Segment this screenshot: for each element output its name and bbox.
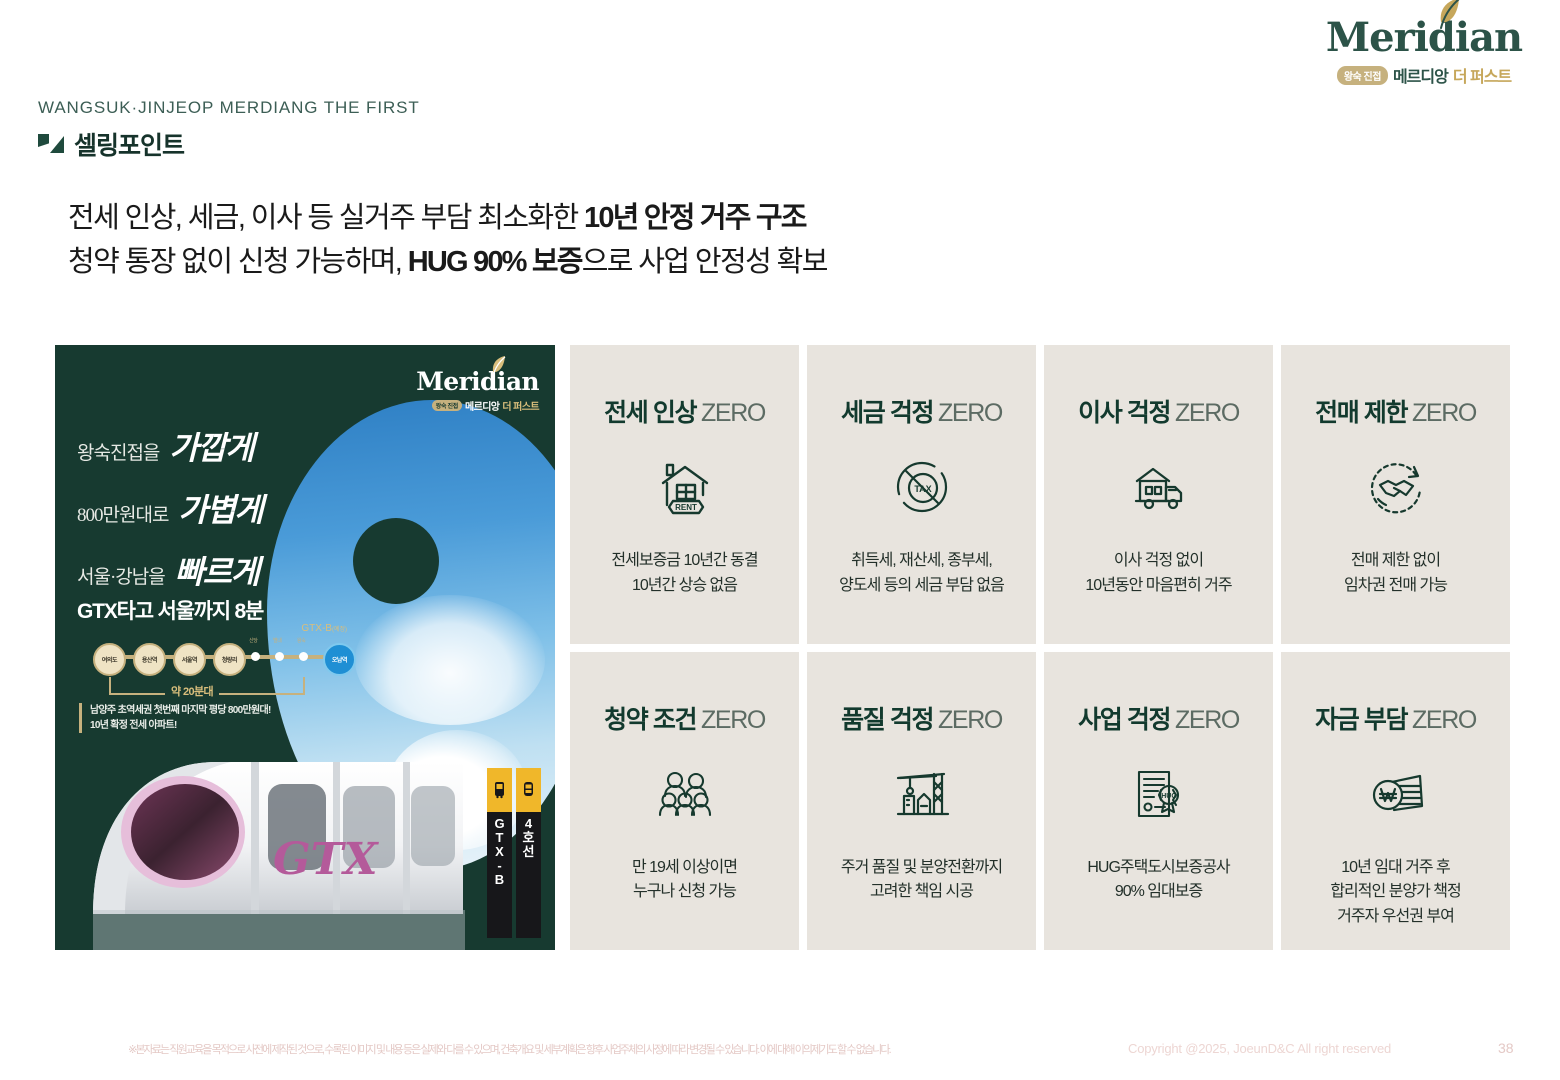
card-description: 전세보증금 10년간 동결10년간 상승 없음 <box>611 549 757 599</box>
subway-icon <box>516 768 541 812</box>
house-rent-icon: RENT <box>653 455 717 519</box>
sign-label-gtx-b: GTX-B <box>494 817 504 887</box>
handshake-icon <box>1364 455 1428 519</box>
card-description: HUG주택도시보증공사90% 임대보증 <box>1087 856 1229 906</box>
metro-station: 용산역 <box>133 643 166 676</box>
card-description: 10년 임대 거주 후합리적인 분양가 책정거주자 우선권 부여 <box>1330 856 1460 930</box>
metro-dot <box>275 652 284 661</box>
svg-text:RENT: RENT <box>675 503 697 512</box>
brand-pill: 왕숙 진접 <box>1337 66 1388 85</box>
brand-subline: 왕숙 진접 메르디앙 더 퍼스트 <box>1337 63 1511 87</box>
poster-kr-secondary: 더 퍼스트 <box>502 398 539 413</box>
people-group-icon <box>653 762 717 826</box>
slogan-row: 서울·강남을빠르게 <box>77 547 337 593</box>
card-title: 전매 제한ZERO <box>1315 393 1476 429</box>
moving-truck-icon <box>1127 455 1191 519</box>
lede-line-2: 청약 통장 없이 신청 가능하며, HUG 90% 보증으로 사업 안정성 확보 <box>68 240 1068 284</box>
footer-copyright: Copyright @2025, JoeunD&C All right rese… <box>1128 1041 1391 1056</box>
card-resale-restriction[interactable]: 전매 제한ZERO 전매 제한 없이임차권 전매 가능 <box>1281 345 1510 644</box>
slogan-row: 800만원대로가볍게 <box>77 485 337 531</box>
card-funding-burden[interactable]: 자금 부담ZERO 10년 임대 거주 후합리적인 분양가 책정거주자 우선권 … <box>1281 652 1510 951</box>
card-subscription-condition[interactable]: 청약 조건ZERO 만 19세 이상이면누구나 신청 가능 <box>570 652 799 951</box>
slogan-row: 왕숙진접을가깝게 <box>77 423 337 469</box>
metro-dot <box>251 652 260 661</box>
metro-dot <box>299 652 308 661</box>
card-title: 사업 걱정ZERO <box>1078 700 1239 736</box>
metro-station-end: 오남역 <box>323 643 356 676</box>
metro-midlabel: 왕숙 <box>297 637 306 644</box>
gtx-headline: GTX타고 서울까지 8분 <box>77 595 263 625</box>
card-title: 전세 인상ZERO <box>604 393 765 429</box>
construction-crane-icon <box>890 762 954 826</box>
poster-brand-pill: 왕숙 진접 <box>432 400 462 411</box>
page-title-text: 셀링포인트 <box>74 126 184 162</box>
card-business-worry[interactable]: 사업 걱정ZERO HUG HUG주택도시보증공사90% 임대보증 <box>1044 652 1273 951</box>
hug-certificate-icon: HUG <box>1127 762 1191 826</box>
page-title: 셀링포인트 <box>38 126 184 162</box>
sign-label-line-4: 4호선 <box>523 817 535 859</box>
metro-station: 여의도 <box>93 643 126 676</box>
brand-kr-primary: 메르디앙 <box>1393 63 1448 87</box>
svg-text:TAX: TAX <box>914 484 931 494</box>
promo-poster: Meridian 왕숙 진접 메르디앙 더 퍼스트 왕숙진접을가깝게 800만원… <box>55 345 555 950</box>
brand-kr-secondary: 더 퍼스트 <box>1453 63 1511 87</box>
section-mark-icon <box>38 132 64 156</box>
station-signs: GTX-B 4호선 <box>487 768 541 938</box>
card-title: 자금 부담ZERO <box>1315 700 1476 736</box>
gtx-train-logo: GTX <box>273 834 379 885</box>
selling-point-grid: 전세 인상ZERO RENT 전세보증금 10년간 동결10년간 상승 없음 세… <box>570 345 1510 950</box>
no-tax-icon: TAX <box>890 455 954 519</box>
poster-wordmark: Meridian <box>416 369 539 394</box>
poster-brand-logo: Meridian 왕숙 진접 메르디앙 더 퍼스트 <box>416 369 539 413</box>
lede-block: 전세 인상, 세금, 이사 등 실거주 부담 최소화한 10년 안정 거주 구조… <box>68 196 1068 284</box>
poster-note-line: 남양주 초역세권 첫번째 마지막 평당 800만원대! <box>90 703 271 718</box>
sign-gtx-b: GTX-B <box>487 768 512 938</box>
svg-text:HUG: HUG <box>1161 793 1177 800</box>
breadcrumb: WANGSUK·JINJEOP MERDIANG THE FIRST <box>38 98 420 118</box>
cloud-graphic <box>355 595 545 725</box>
leaf-icon <box>490 355 507 377</box>
card-quality-worry[interactable]: 품질 걱정ZERO 주거 품질 및 분양전환까지고려한 책임 시공 <box>807 652 1036 951</box>
sign-line-4: 4호선 <box>516 768 541 938</box>
card-moving-worry[interactable]: 이사 걱정ZERO 이사 걱정 없이10년동안 마음편히 거주 <box>1044 345 1273 644</box>
metro-midlabel: 신당 <box>249 637 258 644</box>
card-title: 세금 걱정ZERO <box>841 393 1002 429</box>
gtx-train-image: GTX <box>63 724 503 950</box>
brand-wordmark: Meridian <box>1326 18 1522 58</box>
card-title: 이사 걱정ZERO <box>1078 393 1239 429</box>
page-number: 38 <box>1498 1040 1514 1056</box>
brand-logo: Meridian 왕숙 진접 메르디앙 더 퍼스트 <box>1318 18 1530 98</box>
poster-slogans: 왕숙진접을가깝게 800만원대로가볍게 서울·강남을빠르게 <box>77 423 337 609</box>
metro-midlabel: 별내 <box>273 637 282 644</box>
metro-duration-label: 약 20분대 <box>165 683 219 699</box>
card-tax-worry[interactable]: 세금 걱정ZERO TAX 취득세, 재산세, 종부세,양도세 등의 세금 부담… <box>807 345 1036 644</box>
card-title: 청약 조건ZERO <box>604 700 765 736</box>
card-title: 품질 걱정ZERO <box>841 700 1002 736</box>
card-description: 전매 제한 없이임차권 전매 가능 <box>1344 549 1447 599</box>
metro-station: 청량리 <box>213 643 246 676</box>
card-description: 만 19세 이상이면누구나 신청 가능 <box>632 856 737 906</box>
metro-line-diagram: GTX-B(예정) 여의도 용산역 서울역 청량리 신당 별내 왕숙 오남역 약… <box>73 627 363 697</box>
card-jeonse-increase[interactable]: 전세 인상ZERO RENT 전세보증금 10년간 동결10년간 상승 없음 <box>570 345 799 644</box>
train-icon <box>487 768 512 812</box>
card-description: 이사 걱정 없이10년동안 마음편히 거주 <box>1085 549 1231 599</box>
won-money-icon <box>1364 762 1428 826</box>
metro-line-label: GTX-B(예정) <box>301 623 347 634</box>
metro-station: 서울역 <box>173 643 206 676</box>
poster-kr-primary: 메르디앙 <box>465 398 499 413</box>
leaf-icon <box>1436 0 1462 30</box>
footer-disclaimer: ※본자료는 직원교육을 목적으로 사전에 제작된 것으로, 수록된 이미지 및 … <box>128 1041 1118 1057</box>
lede-line-1: 전세 인상, 세금, 이사 등 실거주 부담 최소화한 10년 안정 거주 구조 <box>68 196 1068 240</box>
card-description: 취득세, 재산세, 종부세,양도세 등의 세금 부담 없음 <box>839 549 1004 599</box>
card-description: 주거 품질 및 분양전환까지고려한 책임 시공 <box>841 856 1002 906</box>
